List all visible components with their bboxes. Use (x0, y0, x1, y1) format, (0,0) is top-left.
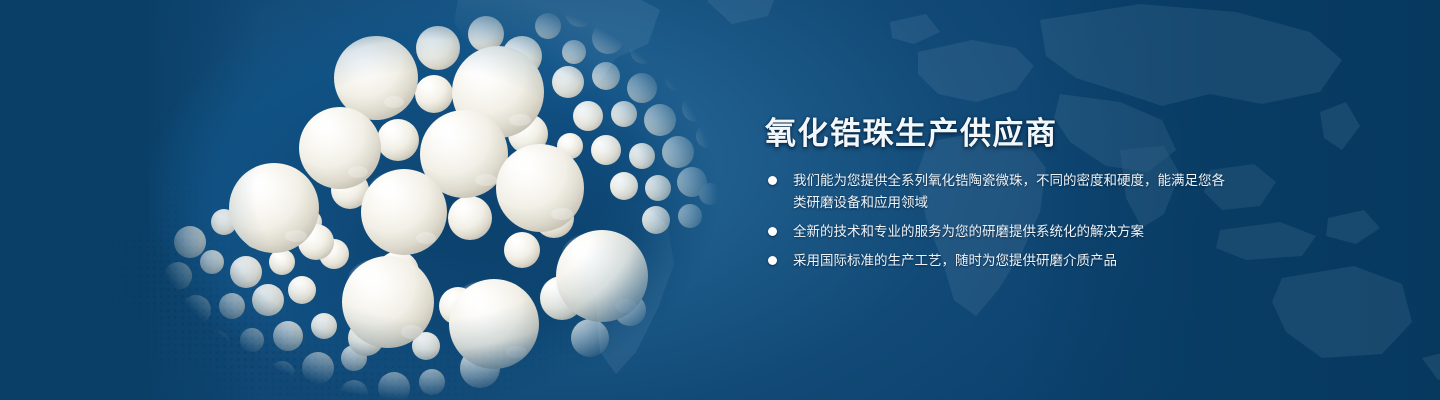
bullet-dot-icon (768, 176, 777, 185)
list-item: 我们能为您提供全系列氧化锆陶瓷微珠，不同的密度和硬度，能满足您各类研磨设备和应用… (767, 170, 1237, 214)
page-title: 氧化锆珠生产供应商 (765, 108, 1058, 153)
list-item-label: 我们能为您提供全系列氧化锆陶瓷微珠，不同的密度和硬度，能满足您各类研磨设备和应用… (793, 170, 1237, 214)
bullet-dot-icon (768, 227, 777, 236)
list-item-label: 采用国际标准的生产工艺，随时为您提供研磨介质产品 (793, 250, 1237, 272)
banner-content: 氧化锆珠生产供应商 我们能为您提供全系列氧化锆陶瓷微珠，不同的密度和硬度，能满足… (765, 0, 1245, 400)
list-item: 采用国际标准的生产工艺，随时为您提供研磨介质产品 (767, 250, 1237, 272)
feature-list: 我们能为您提供全系列氧化锆陶瓷微珠，不同的密度和硬度，能满足您各类研磨设备和应用… (767, 170, 1237, 272)
zirconia-beads-photo (150, 0, 730, 400)
hero-banner: 氧化锆珠生产供应商 我们能为您提供全系列氧化锆陶瓷微珠，不同的密度和硬度，能满足… (0, 0, 1440, 400)
list-item-label: 全新的技术和专业的服务为您的研磨提供系统化的解决方案 (793, 221, 1237, 243)
list-item: 全新的技术和专业的服务为您的研磨提供系统化的解决方案 (767, 221, 1237, 243)
bullet-dot-icon (768, 256, 777, 265)
